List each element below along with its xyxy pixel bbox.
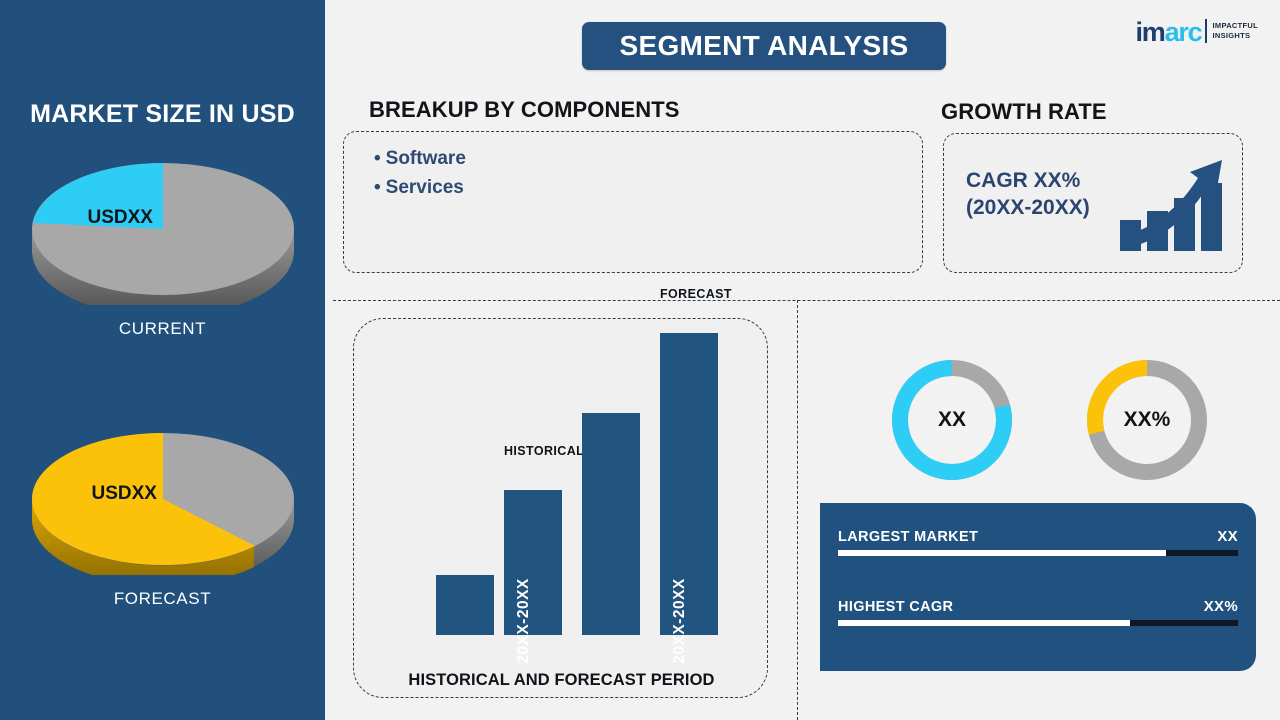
forecast-pie-icon: [28, 425, 298, 575]
growth-bar-arrow-icon: [1116, 152, 1228, 261]
components-heading: BREAKUP BY COMPONENTS: [369, 97, 680, 123]
growth-rate-heading: GROWTH RATE: [941, 99, 1107, 125]
logo-tagline: IMPACTFUL INSIGHTS: [1213, 21, 1258, 41]
imarc-logo: imarc IMPACTFUL INSIGHTS: [1135, 14, 1258, 48]
current-pie-icon: [28, 155, 298, 305]
page-title: SEGMENT ANALYSIS: [582, 22, 946, 70]
forecast-pie-caption: FORECAST: [0, 589, 325, 609]
cagr-line-2: (20XX-20XX): [966, 195, 1090, 222]
metric-largest-market: LARGEST MARKET XX: [838, 528, 1238, 556]
current-pie-caption: CURRENT: [0, 319, 325, 339]
metric-progress-track: [838, 620, 1238, 626]
metric-progress-fill: [838, 550, 1166, 556]
metric-row: LARGEST MARKET XX: [838, 528, 1238, 545]
bullet-icon: •: [374, 148, 381, 169]
metric-label: HIGHEST CAGR: [838, 599, 953, 615]
bar-inner-label: 20XX-20XX: [515, 578, 533, 664]
growth-rate-box: CAGR XX% (20XX-20XX): [943, 133, 1243, 273]
bar-top-label: HISTORICAL: [504, 444, 562, 458]
current-market-size-block: USDXX CURRENT: [0, 155, 325, 339]
metric-row: HIGHEST CAGR XX%: [838, 598, 1238, 615]
vertical-divider: [797, 300, 798, 720]
logo-tagline-line2: INSIGHTS: [1213, 31, 1258, 41]
logo-tagline-line1: IMPACTFUL: [1213, 21, 1258, 31]
bar-chart-bar: [582, 413, 640, 635]
bar-chart-plot: HISTORICAL 20XX-20XX FORECAST 20XX-20XX: [354, 319, 769, 667]
bullet-icon: •: [374, 177, 381, 198]
donut-value: XX: [887, 355, 1017, 485]
components-list: •Software •Services: [374, 144, 466, 202]
list-item: •Services: [374, 173, 466, 202]
current-pie-stage: USDXX: [28, 155, 298, 305]
main-panel: SEGMENT ANALYSIS imarc IMPACTFUL INSIGHT…: [325, 0, 1280, 720]
metric-highest-cagr: HIGHEST CAGR XX%: [838, 598, 1238, 626]
logo-wordmark-dark: im: [1135, 17, 1164, 47]
bar-chart-bar: 20XX-20XX: [660, 333, 718, 635]
historical-forecast-chart: HISTORICAL 20XX-20XX FORECAST 20XX-20XX …: [353, 318, 768, 698]
bar-inner-label: 20XX-20XX: [671, 578, 689, 664]
logo-wordmark: imarc: [1135, 19, 1201, 46]
logo-wordmark-light: arc: [1165, 17, 1202, 47]
bar-chart-bar: [436, 575, 494, 635]
component-label: Services: [386, 177, 464, 198]
components-box: •Software •Services: [343, 131, 923, 273]
metric-label: LARGEST MARKET: [838, 529, 978, 545]
metric-value: XX%: [1204, 598, 1238, 615]
forecast-market-size-block: USDXX FORECAST: [0, 425, 325, 609]
sidebar-title: MARKET SIZE IN USD: [0, 100, 325, 129]
cagr-line-1: CAGR XX%: [966, 168, 1090, 195]
component-label: Software: [386, 148, 466, 169]
bar-chart-axis-title: HISTORICAL AND FORECAST PERIOD: [354, 671, 769, 690]
metrics-panel: LARGEST MARKET XX HIGHEST CAGR XX%: [820, 503, 1256, 671]
metric-value: XX: [1217, 528, 1238, 545]
list-item: •Software: [374, 144, 466, 173]
metric-progress-track: [838, 550, 1238, 556]
cagr-text: CAGR XX% (20XX-20XX): [966, 168, 1090, 222]
largest-market-donut: XX: [887, 355, 1017, 485]
highest-cagr-donut: XX%: [1082, 355, 1212, 485]
logo-divider-bar: [1205, 19, 1207, 43]
bar-top-label: FORECAST: [660, 287, 718, 301]
forecast-pie-stage: USDXX: [28, 425, 298, 575]
metric-progress-fill: [838, 620, 1130, 626]
donut-value: XX%: [1082, 355, 1212, 485]
sidebar: MARKET SIZE IN USD USDXX CURRENT: [0, 0, 325, 720]
horizontal-divider: [333, 300, 1280, 301]
bar-chart-bar: 20XX-20XX: [504, 490, 562, 635]
